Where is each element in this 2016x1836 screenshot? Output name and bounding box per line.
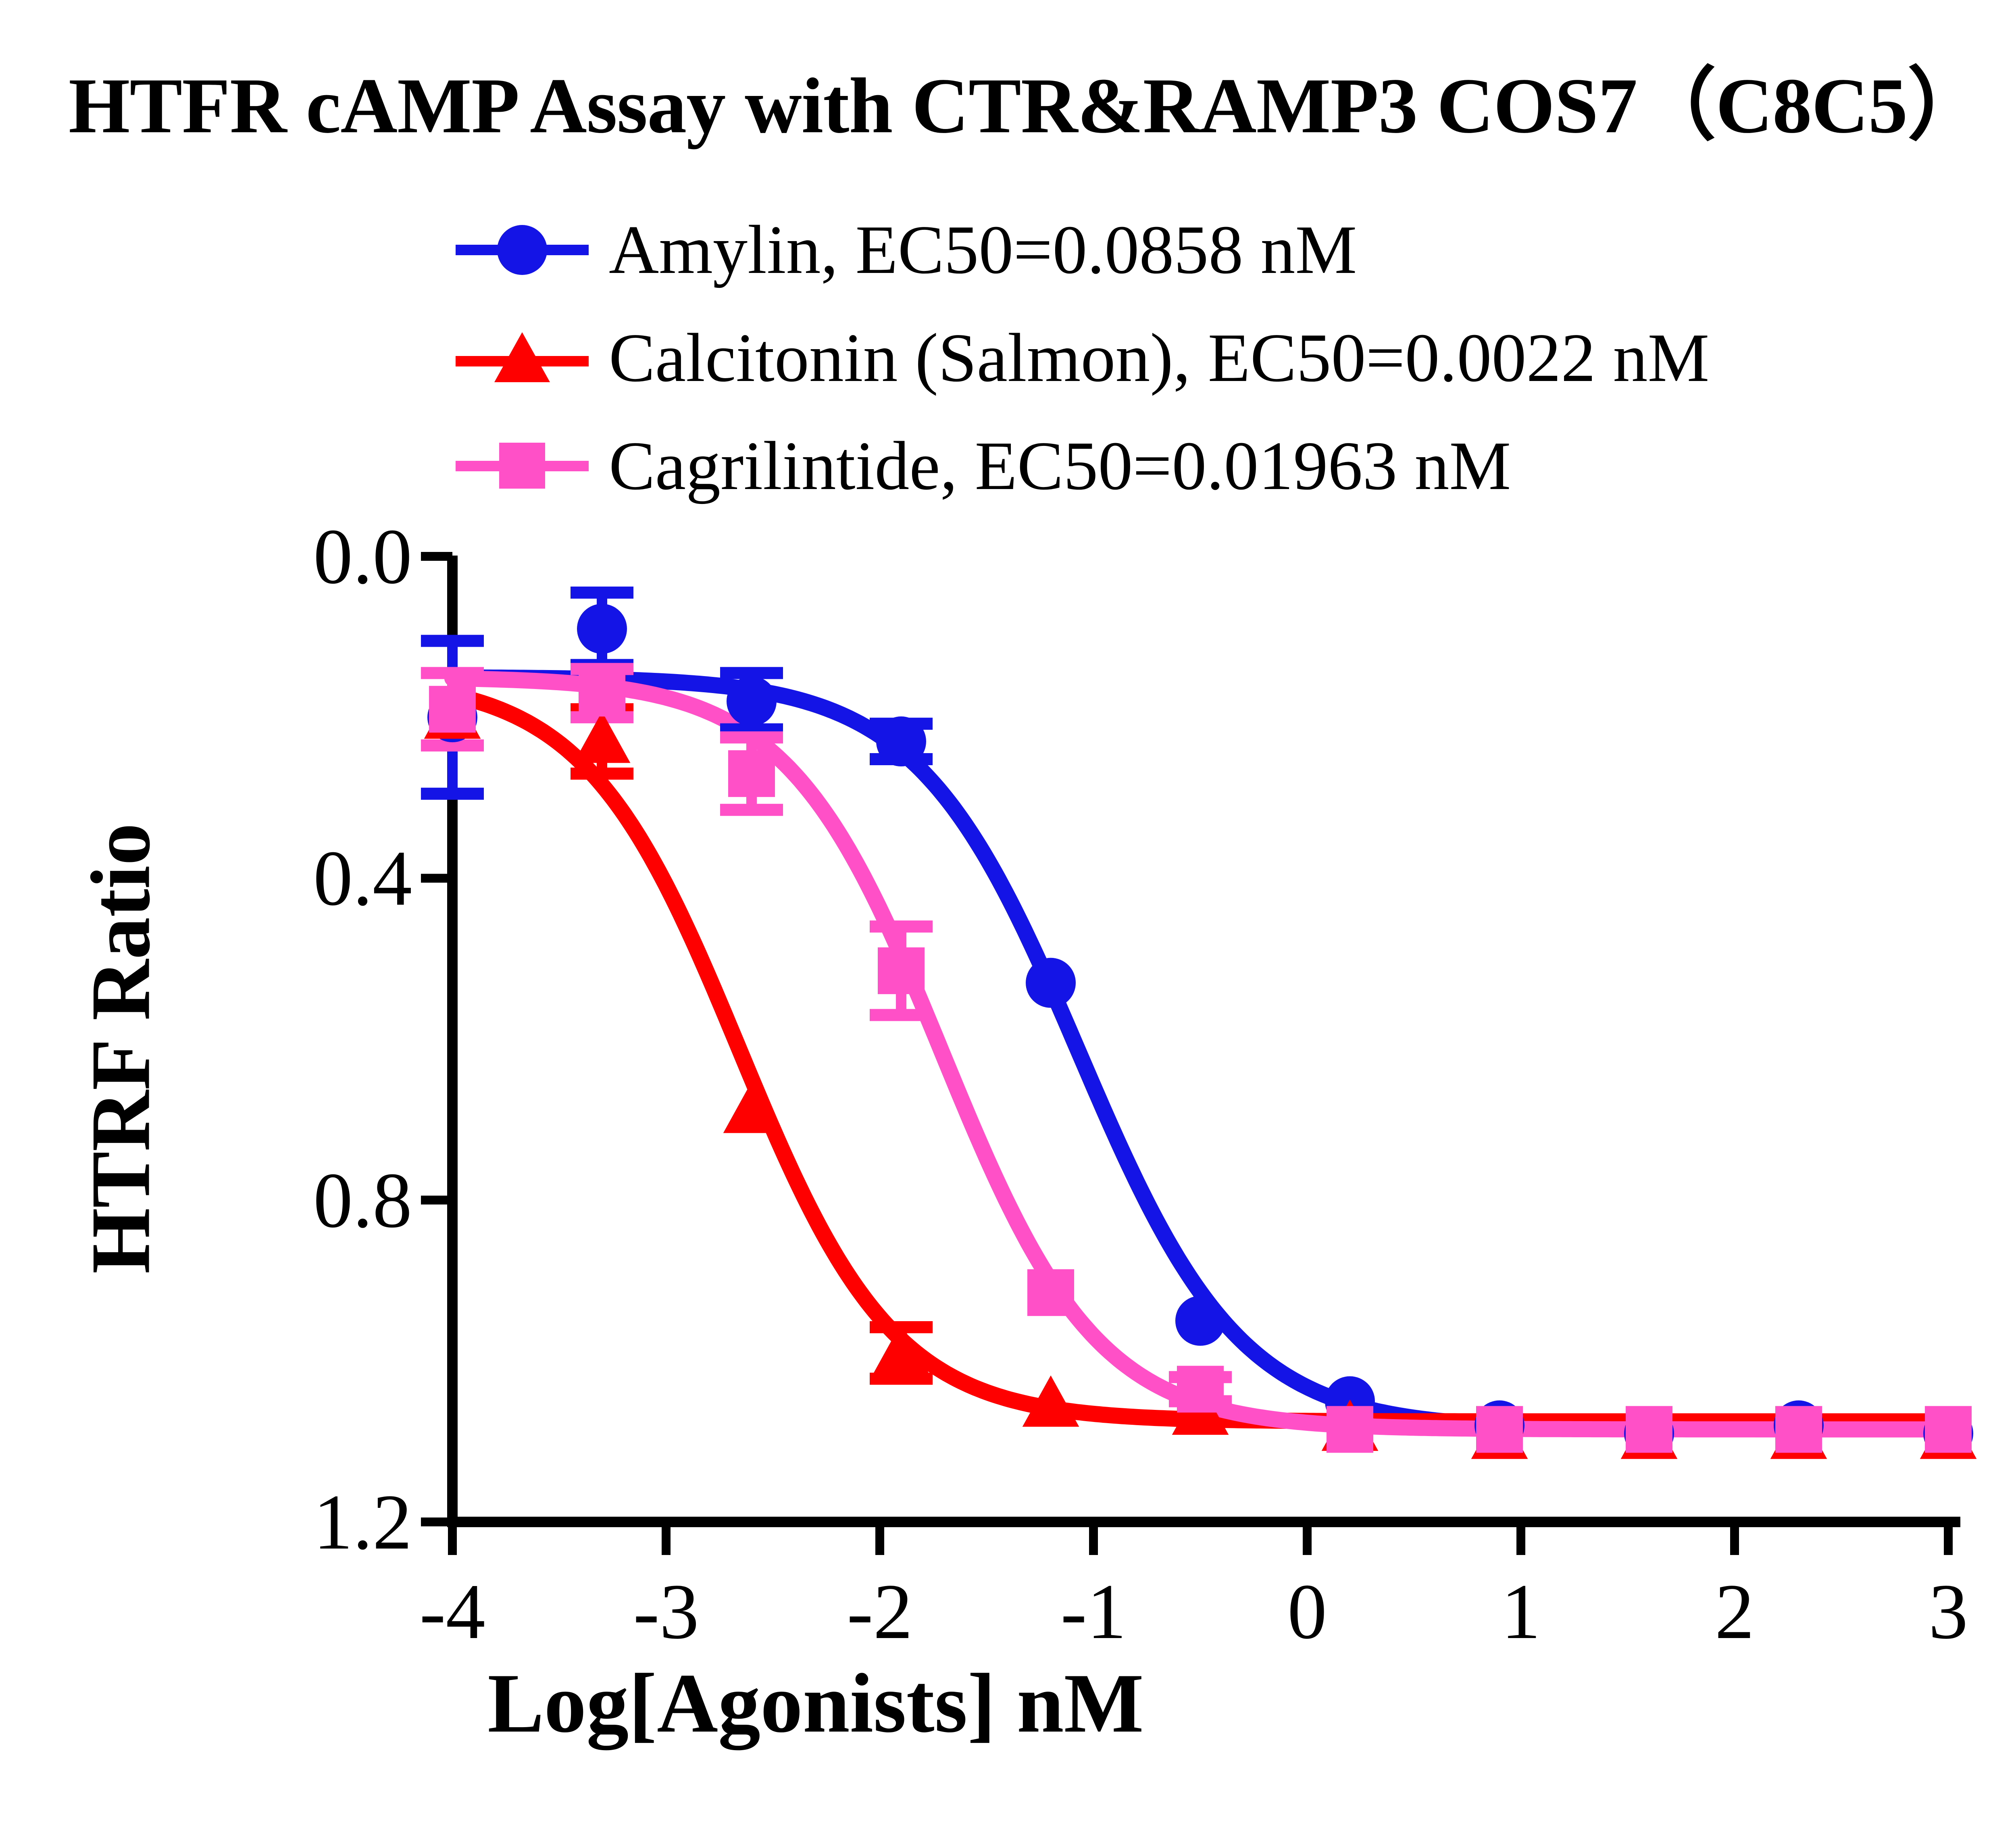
data-point-calcitonin-salmon-[interactable]: [1023, 1376, 1079, 1427]
data-point-amylin[interactable]: [1475, 1401, 1524, 1451]
x-axis-label-text: Log[Agonists] nM: [487, 1657, 1144, 1750]
data-point-calcitonin-salmon-[interactable]: [574, 712, 631, 763]
x-tick-label: -3: [585, 1566, 747, 1657]
fit-curve-cagrilintide: [452, 679, 1948, 1430]
data-point-amylin[interactable]: [1923, 1408, 1973, 1458]
data-point-cagrilintide[interactable]: [1476, 1406, 1523, 1453]
chart-title: HTFR cAMP Assay with CTR&RAMP3 COS7（C8C5…: [69, 65, 1986, 148]
x-tick-label: 0: [1227, 1566, 1388, 1657]
data-point-calcitonin-salmon-[interactable]: [1770, 1407, 1827, 1459]
data-point-amylin[interactable]: [727, 676, 777, 726]
x-tick-label: 3: [1868, 1566, 2016, 1657]
data-point-cagrilintide[interactable]: [1327, 1406, 1373, 1453]
data-point-cagrilintide[interactable]: [429, 686, 476, 733]
legend-item-amylin[interactable]: Amylin, EC50=0.0858 nM: [456, 218, 2016, 326]
x-tick-label: -4: [372, 1566, 533, 1657]
data-point-calcitonin-salmon-[interactable]: [723, 1082, 780, 1133]
data-point-calcitonin-salmon-[interactable]: [1172, 1384, 1229, 1435]
data-point-amylin[interactable]: [1175, 1296, 1225, 1346]
legend-item-cagrilintide[interactable]: Cagrilintide, EC50=0.01963 nM: [456, 434, 2016, 542]
data-point-amylin[interactable]: [1325, 1376, 1375, 1426]
x-tick-label: 1: [1440, 1566, 1602, 1657]
legend-label-calcitonin: Calcitonin (Salmon), EC50=0.0022 nM: [609, 318, 1709, 398]
data-point-cagrilintide[interactable]: [878, 947, 925, 994]
data-point-amylin[interactable]: [427, 692, 477, 742]
fit-curve-amylin: [452, 677, 1948, 1429]
data-point-calcitonin-salmon-[interactable]: [1471, 1407, 1528, 1459]
data-point-cagrilintide[interactable]: [1177, 1366, 1224, 1413]
circle-marker-icon: [456, 218, 589, 282]
data-point-calcitonin-salmon-[interactable]: [1621, 1407, 1678, 1459]
legend-label-amylin: Amylin, EC50=0.0858 nM: [609, 210, 1357, 290]
data-point-calcitonin-salmon-[interactable]: [1920, 1407, 1977, 1459]
data-point-amylin[interactable]: [1624, 1408, 1674, 1458]
data-point-cagrilintide[interactable]: [579, 670, 625, 716]
data-point-amylin[interactable]: [1774, 1401, 1824, 1451]
data-point-amylin[interactable]: [876, 716, 926, 766]
y-axis-label: HTRF Ratio: [73, 444, 170, 1653]
data-point-calcitonin-salmon-[interactable]: [424, 687, 481, 739]
triangle-marker-icon: [456, 326, 589, 390]
data-point-cagrilintide[interactable]: [1775, 1406, 1822, 1453]
data-point-cagrilintide[interactable]: [728, 750, 775, 797]
data-point-calcitonin-salmon-[interactable]: [873, 1323, 930, 1374]
x-tick-label: 2: [1654, 1566, 1815, 1657]
data-point-cagrilintide[interactable]: [1626, 1406, 1672, 1453]
data-point-amylin[interactable]: [577, 604, 627, 654]
fit-curve-calcitonin-salmon-: [452, 695, 1948, 1422]
data-point-amylin[interactable]: [1026, 958, 1076, 1008]
figure-canvas: HTFR cAMP Assay with CTR&RAMP3 COS7（C8C5…: [0, 0, 2016, 1836]
x-tick-label: -1: [1013, 1566, 1174, 1657]
chart-legend: Amylin, EC50=0.0858 nM Calcitonin (Salmo…: [456, 218, 2016, 542]
legend-item-calcitonin[interactable]: Calcitonin (Salmon), EC50=0.0022 nM: [456, 326, 2016, 434]
x-axis-label: Log[Agonists] nM: [0, 1655, 2016, 1752]
data-point-cagrilintide[interactable]: [1027, 1269, 1074, 1316]
data-point-cagrilintide[interactable]: [1925, 1406, 1972, 1453]
square-marker-icon: [456, 434, 589, 498]
x-tick-label: -2: [799, 1566, 960, 1657]
legend-label-cagrilintide: Cagrilintide, EC50=0.01963 nM: [609, 427, 1511, 506]
data-point-calcitonin-salmon-[interactable]: [1322, 1399, 1379, 1451]
